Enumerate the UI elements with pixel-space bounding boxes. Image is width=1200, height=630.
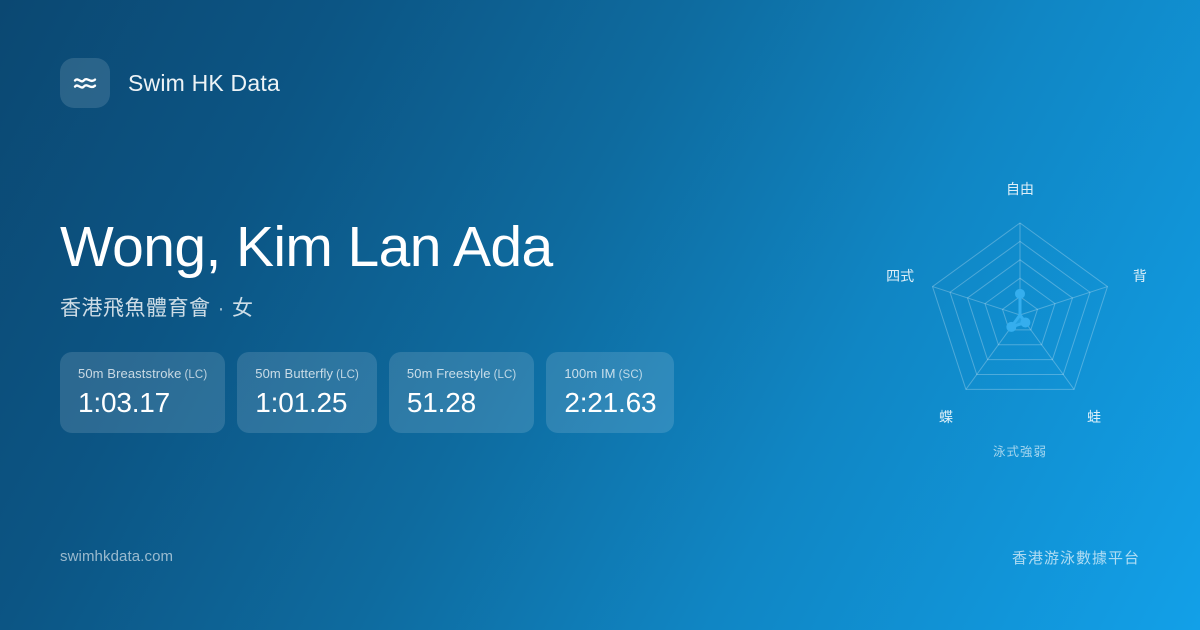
stat-card-label: 100m IM(SC) xyxy=(564,366,656,381)
stat-card[interactable]: 50m Breaststroke(LC) 1:03.17 xyxy=(60,352,225,433)
footer-site-url: swimhkdata.com xyxy=(60,548,173,565)
stat-card-event: 50m Breaststroke xyxy=(78,366,181,381)
radar-axis-label-freestyle: 自由 xyxy=(1006,179,1034,199)
radar-svg xyxy=(870,165,1170,435)
radar-axis-label-breaststroke: 蛙 xyxy=(1087,407,1101,427)
stat-card-list: 50m Breaststroke(LC) 1:03.17 50m Butterf… xyxy=(60,352,674,433)
footer-tagline: 香港游泳數據平台 xyxy=(1012,547,1140,568)
brand-header: Swim HK Data xyxy=(60,58,280,108)
stat-card-label: 50m Breaststroke(LC) xyxy=(78,366,207,381)
stat-card-course: (LC) xyxy=(184,369,207,381)
stat-card-value: 51.28 xyxy=(407,388,516,417)
stat-card-value: 1:01.25 xyxy=(255,388,359,417)
stat-card-course: (LC) xyxy=(494,369,517,381)
stat-card[interactable]: 50m Freestyle(LC) 51.28 xyxy=(389,352,534,433)
athlete-gender: 女 xyxy=(232,297,254,320)
stat-card-event: 100m IM xyxy=(564,366,615,381)
radar-caption: 泳式強弱 xyxy=(870,441,1170,460)
athlete-club: 香港飛魚體育會 xyxy=(60,297,211,320)
stat-card-label: 50m Butterfly(LC) xyxy=(255,366,359,381)
athlete-meta: 香港飛魚體育會·女 xyxy=(60,292,553,322)
wave-icon xyxy=(60,58,110,108)
stat-card-event: 50m Butterfly xyxy=(255,366,333,381)
stat-card-course: (SC) xyxy=(619,369,643,381)
stat-card-label: 50m Freestyle(LC) xyxy=(407,366,516,381)
brand-name: Swim HK Data xyxy=(128,70,280,97)
stat-card[interactable]: 100m IM(SC) 2:21.63 xyxy=(546,352,674,433)
radar-axis-label-butterfly: 蝶 xyxy=(939,407,953,427)
meta-separator: · xyxy=(218,297,226,320)
stat-card-value: 1:03.17 xyxy=(78,388,207,417)
stat-card-value: 2:21.63 xyxy=(564,388,656,417)
stat-card-course: (LC) xyxy=(336,369,359,381)
page-title: Wong, Kim Lan Ada xyxy=(60,218,553,278)
radar-axis-label-im: 四式 xyxy=(886,266,914,286)
stat-card-event: 50m Freestyle xyxy=(407,366,491,381)
radar-axis-label-backstroke: 背 xyxy=(1133,266,1147,286)
stroke-strength-radar-chart: 自由 背 蛙 蝶 四式 泳式強弱 xyxy=(870,165,1170,470)
athlete-hero: Wong, Kim Lan Ada 香港飛魚體育會·女 xyxy=(60,218,553,322)
stat-card[interactable]: 50m Butterfly(LC) 1:01.25 xyxy=(237,352,377,433)
